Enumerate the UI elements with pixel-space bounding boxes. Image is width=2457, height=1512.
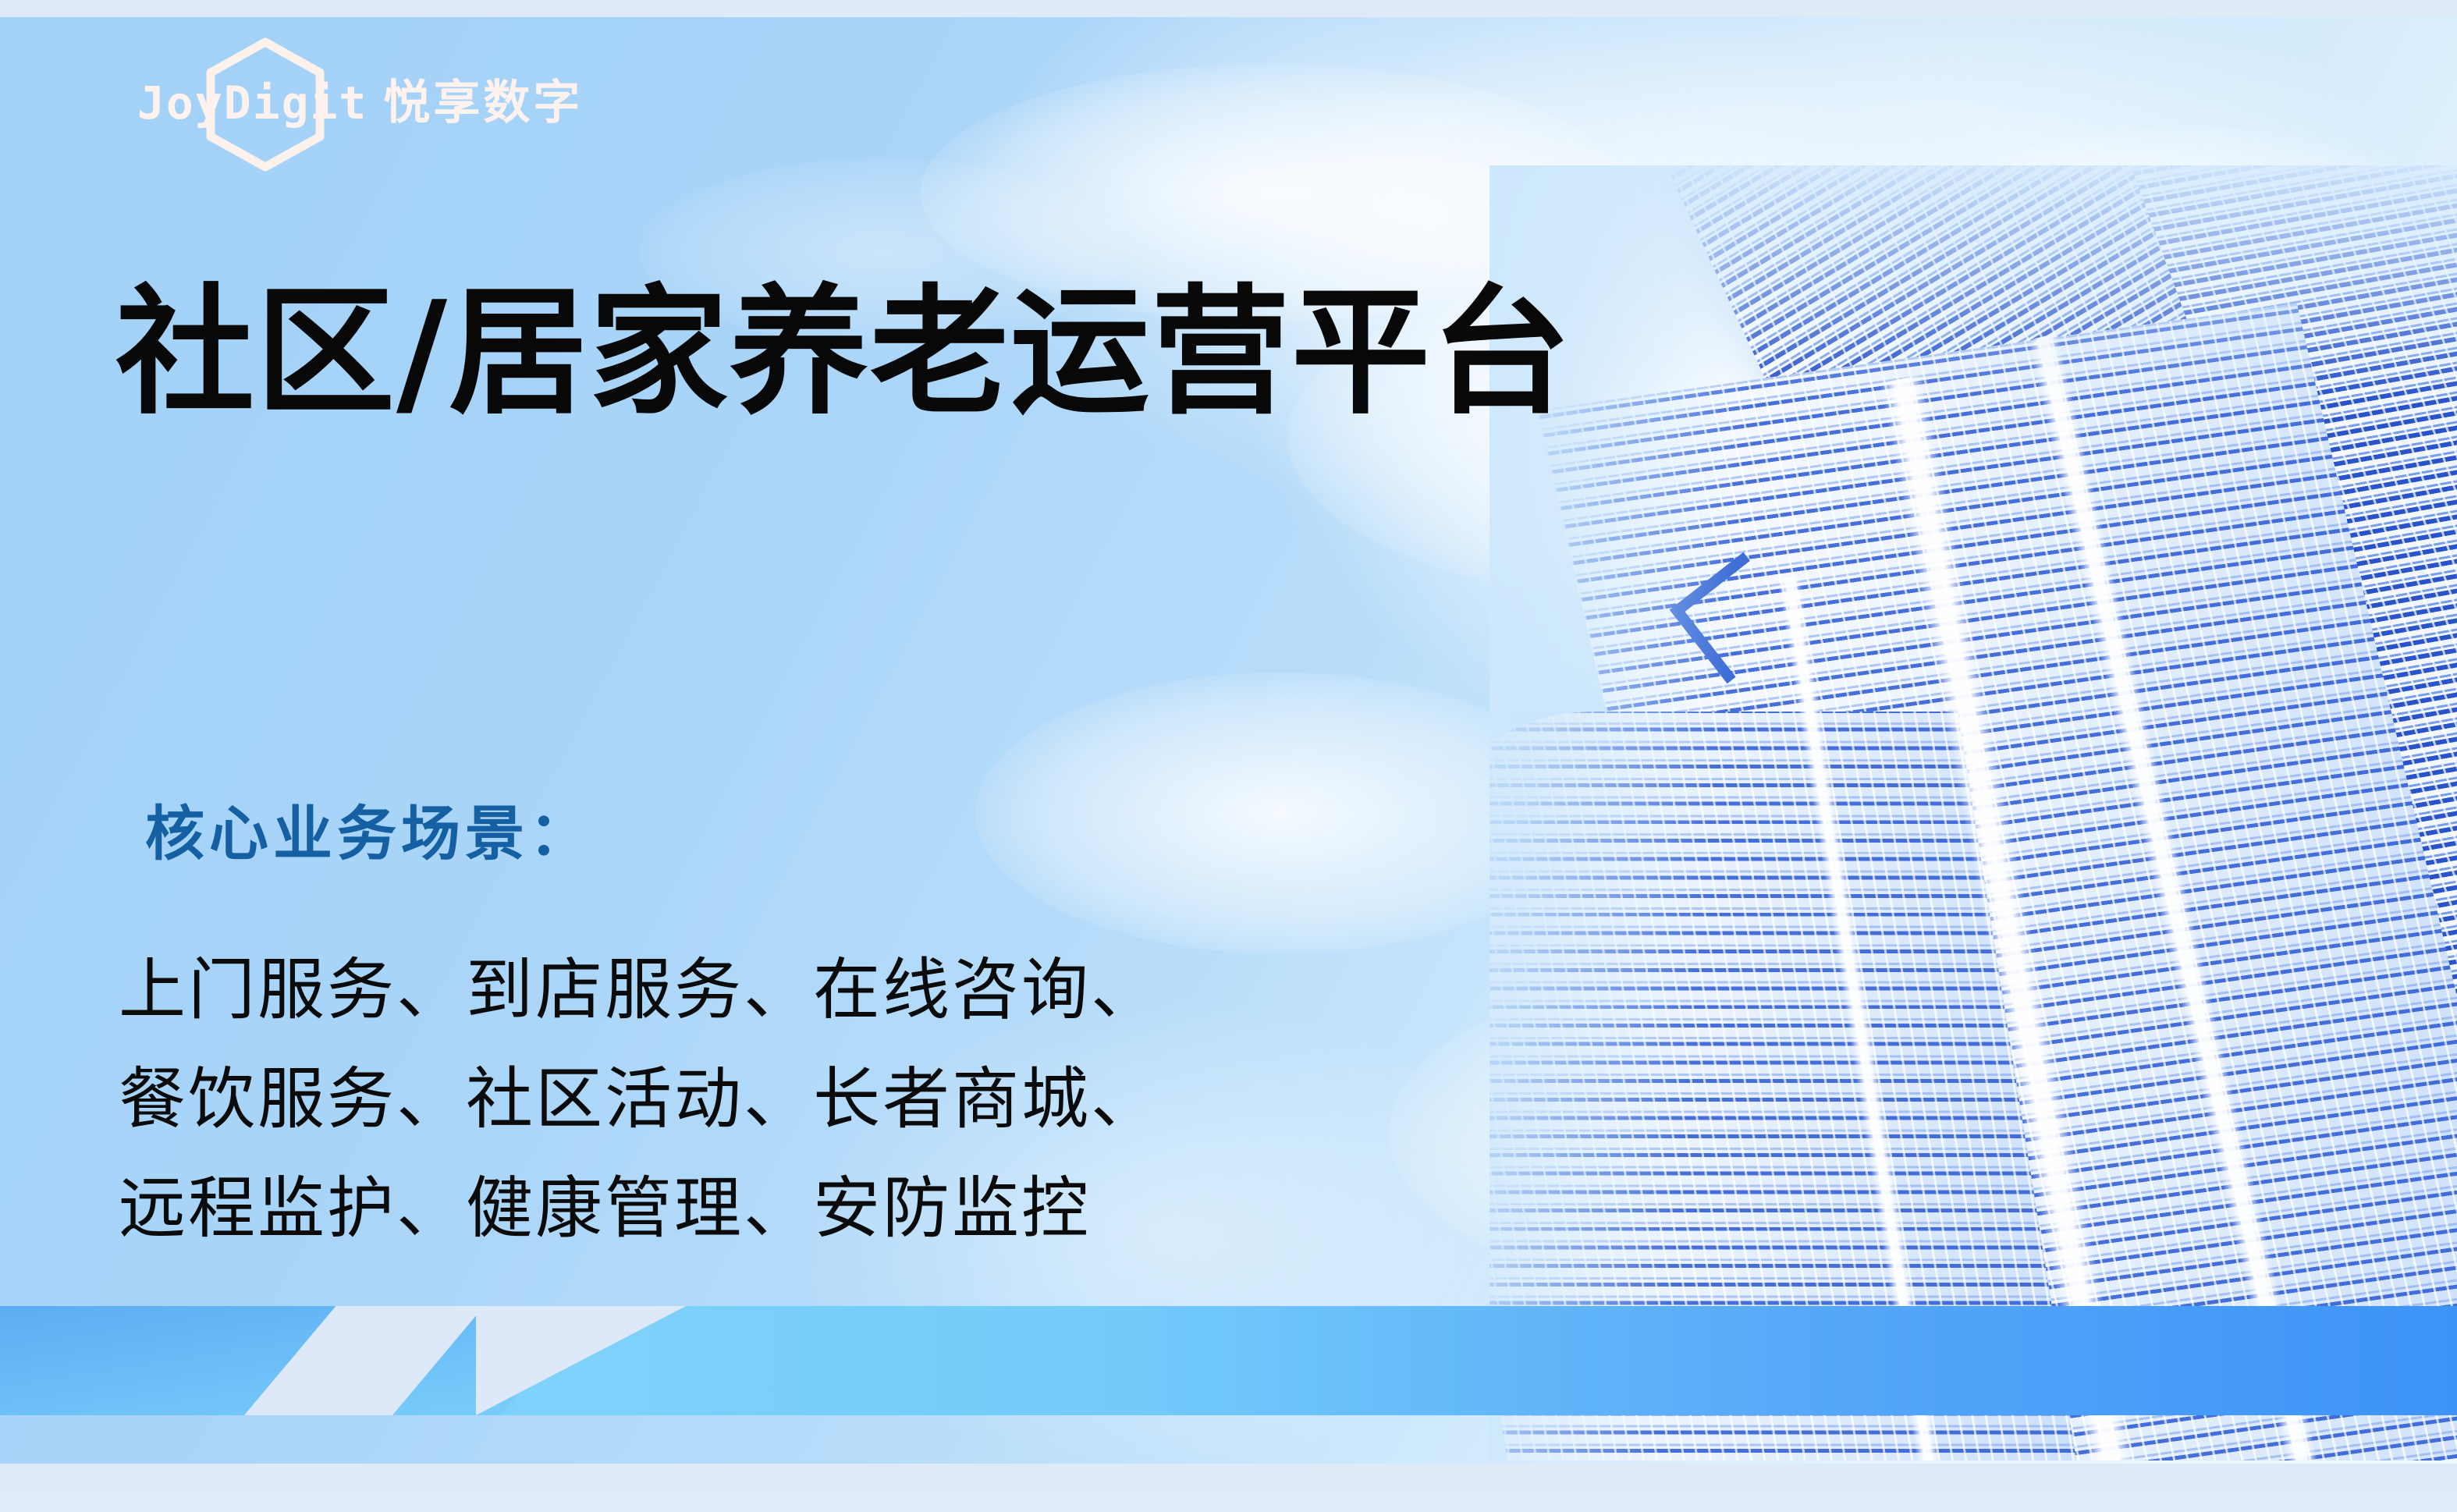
sky-background: JoyDigit 悦享数字 社区/居家养老运营平台 核心业务场景： 上门服务、到… xyxy=(0,17,2457,1464)
page-title: 社区/居家养老运营平台 xyxy=(115,275,1572,430)
top-frame-strip xyxy=(0,0,2457,17)
window-bands xyxy=(1537,303,2457,1461)
facade-pillar xyxy=(1879,374,2143,1461)
tower-upper xyxy=(1622,165,2457,612)
bottom-frame-strip xyxy=(0,1464,2457,1512)
section-subtitle: 核心业务场景： xyxy=(145,786,593,871)
brand-chinese-name: 悦享数字 xyxy=(383,65,583,133)
window-bands xyxy=(1622,165,2457,612)
brand-logo-text: JoyDigit 悦享数字 xyxy=(137,65,583,133)
photo-left-fade xyxy=(1489,165,2457,1461)
skyscraper-photo xyxy=(1489,165,2457,1461)
window-mullions xyxy=(2114,165,2457,1035)
window-bands xyxy=(2114,165,2457,1035)
roof-bracket-detail xyxy=(1670,552,1801,683)
brand-latin-name: JoyDigit xyxy=(137,76,367,130)
bottom-decorative-band xyxy=(0,1306,2457,1415)
cloud-wisp xyxy=(975,673,1584,953)
window-mullions xyxy=(1622,165,2457,612)
facade-pillar xyxy=(2028,333,2325,1461)
scenario-line: 远程监护、健康管理、安防监控 xyxy=(119,1155,1160,1264)
tower-main xyxy=(1537,303,2457,1461)
cloud-wisp xyxy=(1912,126,2457,360)
tower-far-right xyxy=(2114,165,2457,1035)
window-mullions xyxy=(1537,303,2457,1461)
brand-logo[interactable]: JoyDigit 悦享数字 xyxy=(137,51,583,145)
cloud-wisp xyxy=(1389,969,2091,1297)
scenario-line: 餐饮服务、社区活动、长者商城、 xyxy=(119,1045,1160,1155)
scenario-list: 上门服务、到店服务、在线咨询、 餐饮服务、社区活动、长者商城、 远程监护、健康管… xyxy=(119,936,1160,1264)
scenario-line: 上门服务、到店服务、在线咨询、 xyxy=(119,936,1160,1045)
photo-top-fade xyxy=(1489,165,2457,399)
slide-canvas: JoyDigit 悦享数字 社区/居家养老运营平台 核心业务场景： 上门服务、到… xyxy=(0,0,2457,1512)
